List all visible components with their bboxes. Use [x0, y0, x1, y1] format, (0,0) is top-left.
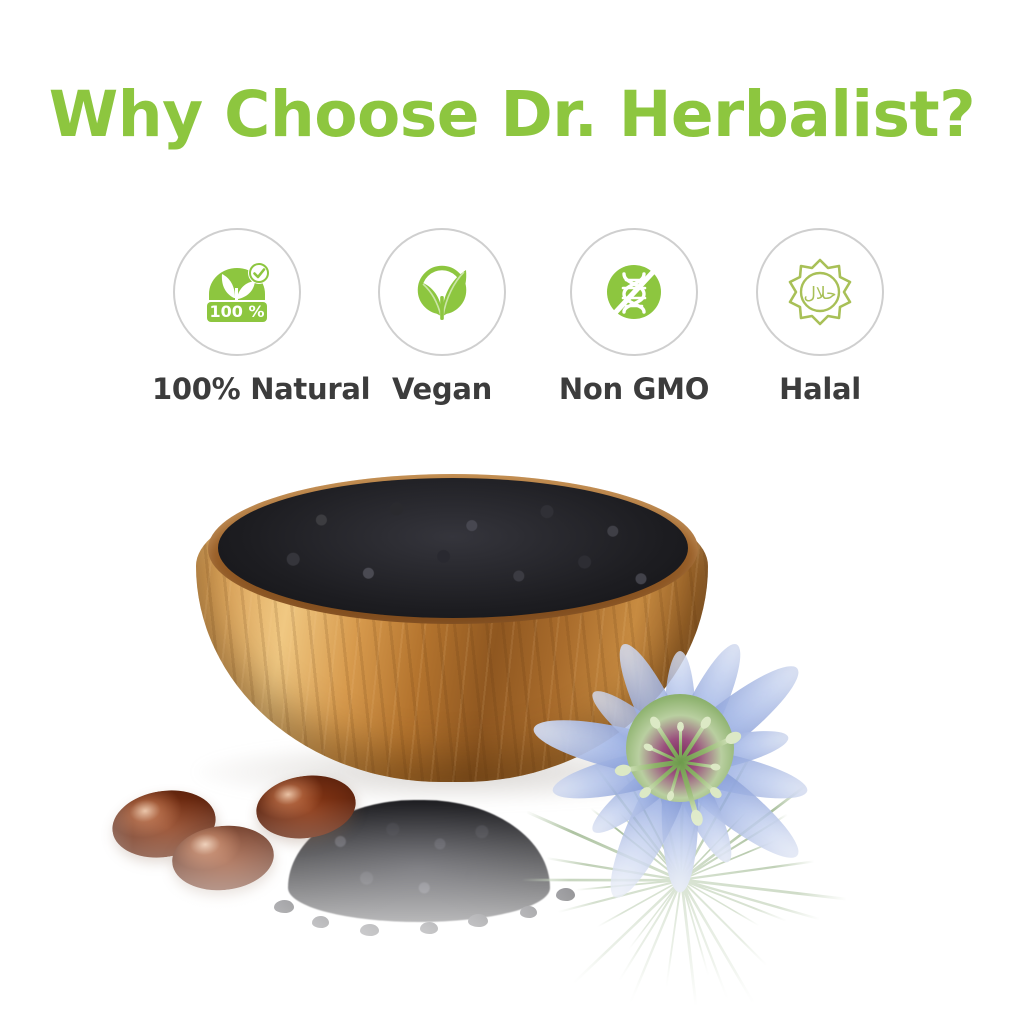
- badge-label: Vegan: [357, 372, 527, 406]
- badge-circle: [570, 228, 698, 356]
- halal-certification-icon: حلال: [784, 256, 856, 328]
- badge-halal: حلال Halal: [735, 228, 905, 406]
- scattered-seed: [360, 924, 379, 936]
- badge-icon-text: 100 %: [210, 302, 265, 321]
- page-title: Why Choose Dr. Herbalist?: [0, 78, 1024, 151]
- badge-label: Non GMO: [549, 372, 719, 406]
- vegan-leaf-icon: [406, 256, 478, 328]
- badge-circle: 100 %: [173, 228, 301, 356]
- trust-badge-row: 100 % 100% Natural Vegan: [0, 228, 1024, 418]
- non-gmo-dna-icon: [598, 256, 670, 328]
- promo-infographic: Why Choose Dr. Herbalist? 100 % 100% Nat…: [0, 0, 1024, 1024]
- badge-label: 100% Natural: [152, 372, 322, 406]
- badge-label: Halal: [735, 372, 905, 406]
- badge-circle: حلال: [756, 228, 884, 356]
- scattered-seed: [274, 900, 294, 913]
- scattered-seed: [312, 916, 329, 928]
- black-seed-product-photo: [0, 430, 1024, 1024]
- badge-icon-text: حلال: [803, 284, 836, 304]
- natural-100-percent-icon: 100 %: [201, 256, 273, 328]
- badge-vegan: Vegan: [357, 228, 527, 406]
- badge-100-natural: 100 % 100% Natural: [152, 228, 322, 406]
- nigella-sativa-flower: [455, 595, 905, 925]
- badge-circle: [378, 228, 506, 356]
- badge-non-gmo: Non GMO: [549, 228, 719, 406]
